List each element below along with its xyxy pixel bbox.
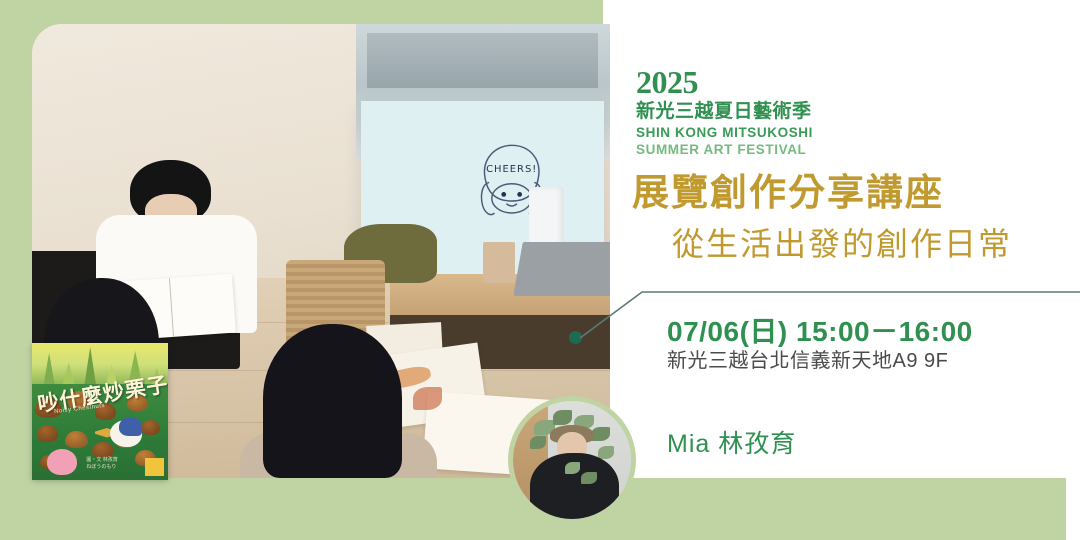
frame-right-gutter xyxy=(1066,0,1080,540)
screen-doodle-label: CHEERS! xyxy=(486,164,537,175)
event-venue: 新光三越台北信義新天地A9 9F xyxy=(667,344,948,373)
book-cover-chestnut xyxy=(92,442,114,458)
book-cover-chestnut xyxy=(141,420,160,435)
connector-dot xyxy=(569,331,582,344)
book-cover-pig xyxy=(47,449,77,475)
event-subtitle: 從生活出發的創作日常 xyxy=(672,228,1012,260)
logo-year: 2025 xyxy=(636,66,896,98)
photo-attendee-right xyxy=(263,324,402,478)
book-cover-badge xyxy=(145,458,164,476)
speaker-avatar xyxy=(508,396,636,524)
logo-name-en-line2: SUMMER ART FESTIVAL xyxy=(636,142,896,159)
festival-logo: 2025 新光三越夏日藝術季 SHIN KONG MITSUKOSHI SUMM… xyxy=(636,66,896,159)
book-cover-chestnut xyxy=(37,425,57,441)
book-cover-chestnut xyxy=(65,431,88,449)
photo-paper-art xyxy=(413,387,442,410)
avatar-leaf xyxy=(553,410,572,424)
frame-left-band xyxy=(0,0,32,540)
event-speaker: Mia 林孜育 xyxy=(667,424,796,460)
book-cover-hedgehog-spikes xyxy=(119,417,142,436)
event-title: 展覽創作分享講座 xyxy=(632,174,944,211)
photo-window-street xyxy=(367,33,598,87)
photo-laptop xyxy=(513,242,610,296)
book-cover-credit-line2: ねぼうのもり xyxy=(86,464,117,472)
logo-name-en-line1: SHIN KONG MITSUKOSHI xyxy=(636,125,896,142)
book-cover-thumbnail: 吵什麼炒栗子 Noisy Chestnuts 圖・文 林孜育 ねぼうのもり xyxy=(32,343,168,480)
photo-cup xyxy=(483,242,515,283)
avatar-leaf xyxy=(581,472,596,484)
white-panel-top xyxy=(603,0,1080,60)
book-cover-credit: 圖・文 林孜育 ねぼうのもり xyxy=(86,457,117,472)
poster-canvas: CHEERS! xyxy=(0,0,1080,540)
logo-name-cn: 新光三越夏日藝術季 xyxy=(636,100,896,124)
